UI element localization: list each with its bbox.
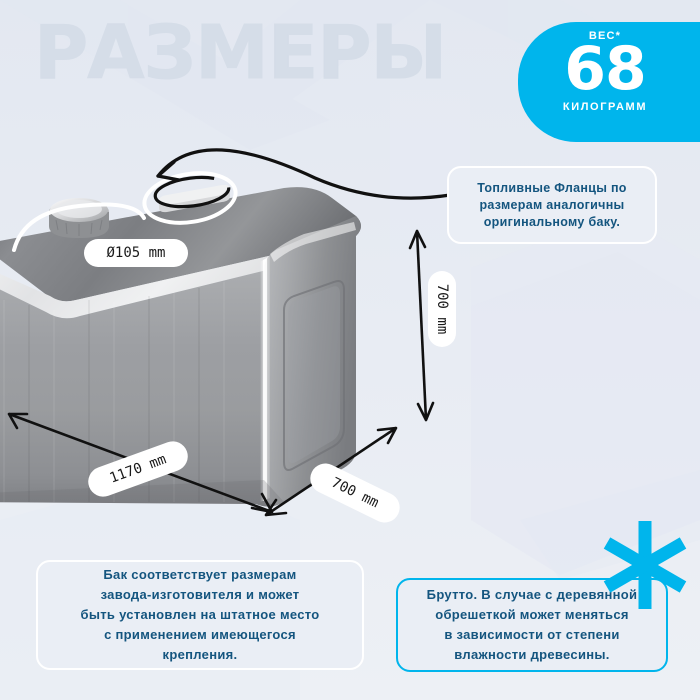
callout-size-line4: с применением имеющегося	[81, 625, 320, 645]
callout-gross-line4: влажности древесины.	[427, 645, 638, 665]
dimension-diameter: Ø105 mm	[84, 239, 188, 267]
callout-size-line5: крепления.	[81, 645, 320, 665]
callout-size: Бак соответствует размерам завода-изгото…	[36, 560, 364, 670]
callout-flange-line2: размерам аналогичны	[477, 197, 627, 214]
infographic-canvas: РАЗМЕРЫ ВЕС* 68 КИЛОГРАММ	[0, 0, 700, 700]
callout-size-line2: завода-изготовителя и может	[81, 585, 320, 605]
callout-gross-line3: в зависимости от степени	[427, 625, 638, 645]
dimension-height: 700 mm	[428, 271, 456, 347]
callout-flange-line1: Топливные Фланцы по	[477, 180, 627, 197]
callout-size-line1: Бак соответствует размерам	[81, 565, 320, 585]
asterisk-icon	[595, 515, 695, 615]
callout-flange-line3: оригинальному баку.	[477, 214, 627, 231]
callout-flange: Топливные Фланцы по размерам аналогичны …	[447, 166, 657, 244]
callout-size-line3: быть установлен на штатное место	[81, 605, 320, 625]
